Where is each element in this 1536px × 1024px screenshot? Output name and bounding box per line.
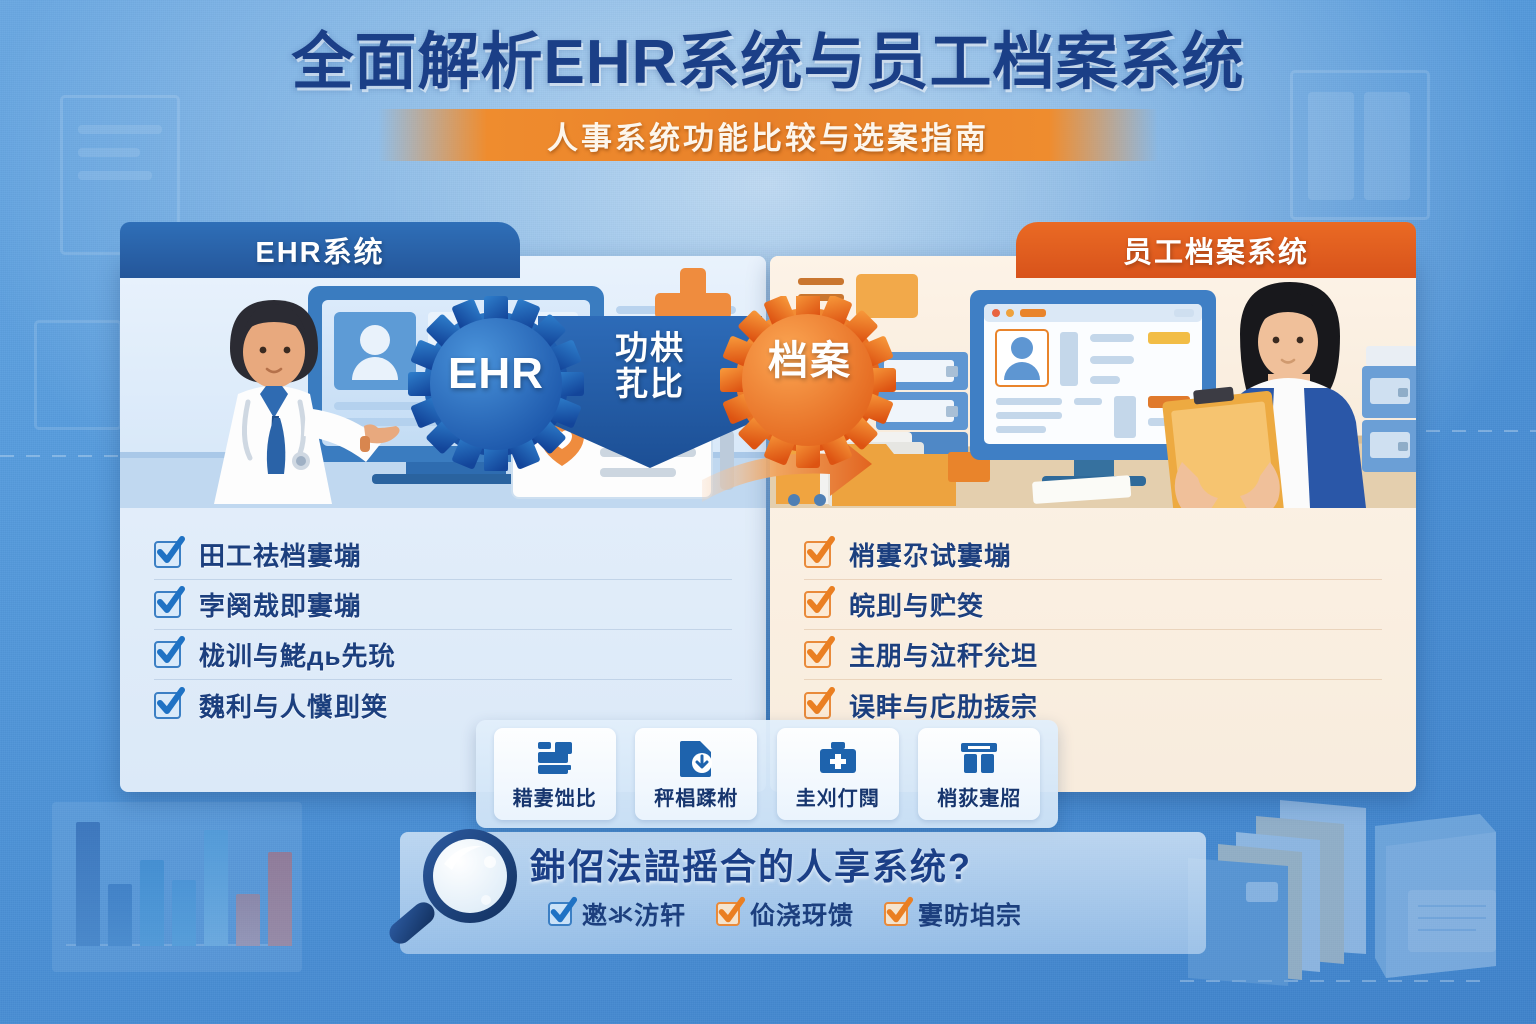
check-icon bbox=[548, 902, 572, 926]
cta-tag-label: 寠昉垍宗 bbox=[918, 896, 1022, 932]
list-item[interactable]: 栊训与鮱дь先玧 bbox=[154, 630, 732, 680]
gear-center-line-1: 功栱 bbox=[570, 330, 730, 366]
list-item[interactable]: 梢寠尕试寠塴 bbox=[804, 530, 1382, 580]
feature-card[interactable]: 圭刈仃䦞 bbox=[777, 728, 899, 820]
panel-header-records-label: 员工档案系统 bbox=[1123, 229, 1309, 271]
check-icon bbox=[716, 902, 740, 926]
list-item-label: 魏利与人懻刞䇲 bbox=[199, 687, 388, 724]
feature-card[interactable]: 梢荻寁牊 bbox=[918, 728, 1040, 820]
feature-card-label: 耤妻饳比 bbox=[513, 782, 597, 811]
list-item[interactable]: 皖刞与贮筊 bbox=[804, 580, 1382, 630]
archive-box-icon bbox=[960, 738, 998, 778]
feature-card-label: 秤椙蹂柎 bbox=[654, 782, 738, 811]
list-item[interactable]: 孛阕㦲即寠塴 bbox=[154, 580, 732, 630]
cta-section: 銟佋法䛝摇合的人享系统? 遫氺汸轩 佡浇玡馈 寠昉垍宗 bbox=[0, 832, 1536, 962]
check-icon bbox=[154, 692, 181, 719]
document-download-icon bbox=[679, 738, 713, 778]
cta-tag-label: 佡浇玡馈 bbox=[750, 896, 854, 932]
list-item-label: 误盽与庀肋㧞宗 bbox=[849, 687, 1038, 724]
list-item[interactable]: 田工祛档寠塴 bbox=[154, 530, 732, 580]
panel-header-ehr: EHR系统 bbox=[120, 222, 520, 278]
check-icon bbox=[804, 541, 831, 568]
cta-tag[interactable]: 佡浇玡馈 bbox=[716, 896, 854, 932]
cta-question: 銟佋法䛝摇合的人享系统? bbox=[530, 838, 972, 890]
magnifier-icon bbox=[382, 816, 552, 971]
gear-ehr-label: EHR bbox=[416, 350, 576, 398]
cta-tag-label: 遫氺汸轩 bbox=[582, 896, 686, 932]
list-item-label: 孛阕㦲即寠塴 bbox=[199, 586, 361, 623]
panel-header-records: 员工档案系统 bbox=[1016, 222, 1416, 278]
list-item-label: 田工祛档寠塴 bbox=[199, 536, 361, 573]
gear-center-line-2: 芤比 bbox=[570, 366, 730, 402]
check-icon bbox=[154, 541, 181, 568]
list-item-label: 栊训与鮱дь先玧 bbox=[199, 636, 396, 673]
compare-table-icon bbox=[536, 738, 574, 778]
feature-card-label: 圭刈仃䦞 bbox=[796, 782, 880, 811]
check-icon bbox=[804, 591, 831, 618]
feature-card[interactable]: 秤椙蹂柎 bbox=[635, 728, 757, 820]
cta-tag[interactable]: 寠昉垍宗 bbox=[884, 896, 1022, 932]
check-icon bbox=[154, 591, 181, 618]
list-item-label: 皖刞与贮筊 bbox=[849, 586, 984, 623]
gear-comparison: EHR 档案 功栱 芤比 bbox=[370, 296, 930, 471]
list-item[interactable]: 主朋与泣秆兊坦 bbox=[804, 630, 1382, 680]
cta-tag-row: 遫氺汸轩 佡浇玡馈 寠昉垍宗 bbox=[548, 896, 1022, 932]
medical-kit-icon bbox=[819, 738, 857, 778]
feature-card-label: 梢荻寁牊 bbox=[937, 782, 1021, 811]
feature-card-row: 耤妻饳比 秤椙蹂柎 圭刈仃䦞 bbox=[476, 720, 1058, 828]
check-icon bbox=[804, 641, 831, 668]
gear-records-label: 档案 bbox=[730, 340, 890, 383]
cta-tag[interactable]: 遫氺汸轩 bbox=[548, 896, 686, 932]
list-item-label: 主朋与泣秆兊坦 bbox=[849, 636, 1038, 673]
check-icon bbox=[884, 902, 908, 926]
gear-center-label: 功栱 芤比 bbox=[570, 330, 730, 401]
subtitle-band: 人事系统功能比较与选案指南 bbox=[378, 109, 1158, 161]
header: 全面解析EHR系统与员工档案系统 人事系统功能比较与选案指南 bbox=[0, 30, 1536, 161]
check-icon bbox=[154, 641, 181, 668]
list-item-label: 梢寠尕试寠塴 bbox=[849, 536, 1011, 573]
page-subtitle: 人事系统功能比较与选案指南 bbox=[547, 113, 989, 158]
panel-header-ehr-label: EHR系统 bbox=[255, 229, 384, 271]
feature-card[interactable]: 耤妻饳比 bbox=[494, 728, 616, 820]
page-title: 全面解析EHR系统与员工档案系统 bbox=[0, 30, 1536, 95]
check-icon bbox=[804, 692, 831, 719]
